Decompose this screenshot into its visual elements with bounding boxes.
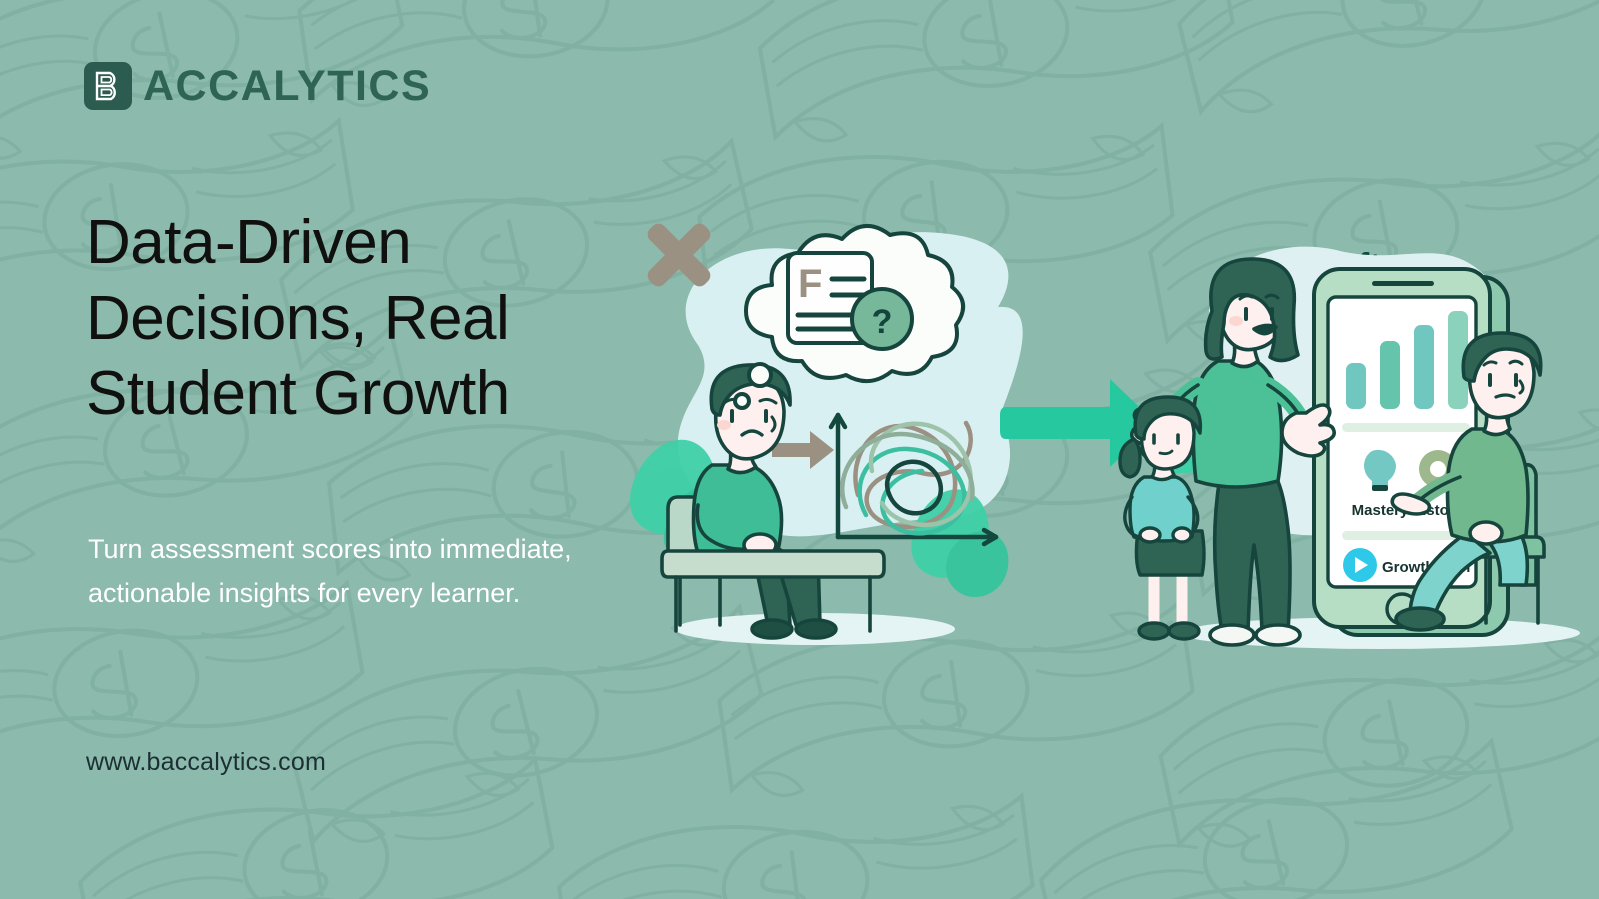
grade-letter: F	[798, 262, 822, 306]
brand-logo[interactable]: ACCALYTICS	[84, 62, 431, 110]
x-mark-icon	[644, 220, 713, 289]
page-title: Data-Driven Decisions, Real Student Grow…	[86, 205, 686, 432]
subheadline: Turn assessment scores into immediate, a…	[88, 528, 648, 615]
marketing-banner: ACCALYTICS Data-Driven Decisions, Real S…	[0, 0, 1599, 899]
logo-mark-icon	[84, 62, 132, 110]
logo-b-glyph	[93, 70, 123, 102]
before-after-illustration: F ?	[620, 215, 1580, 685]
question-mark: ?	[872, 303, 893, 341]
website-url[interactable]: www.baccalytics.com	[86, 748, 326, 777]
question-badge: ?	[852, 289, 912, 349]
logo-wordmark: ACCALYTICS	[143, 65, 431, 108]
